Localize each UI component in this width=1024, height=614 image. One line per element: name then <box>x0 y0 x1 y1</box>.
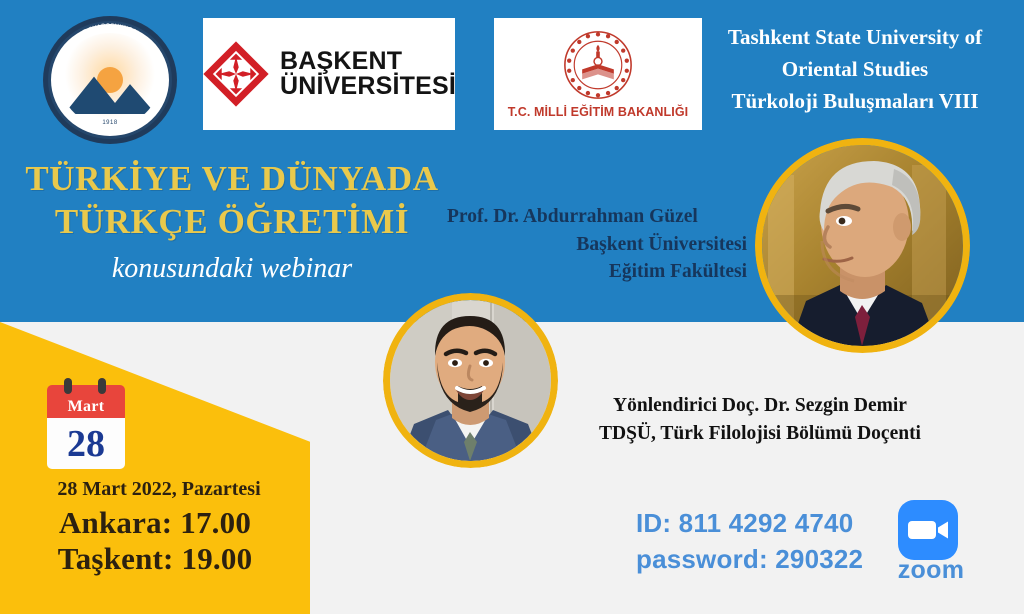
webinar-poster: TOSHKENT DAVLAT SHARQSHUNOSLIK UNIVERSIT… <box>0 0 1024 614</box>
moderator-portrait-demir <box>383 293 558 468</box>
calendar-month-label: Mart <box>68 398 105 416</box>
tsu-emblem-logo: TOSHKENT DAVLAT SHARQSHUNOSLIK UNIVERSIT… <box>43 16 177 144</box>
baskent-line-2: ÜNİVERSİTESİ <box>280 74 456 100</box>
milli-egitim-bakanligi-logo: T.C. MİLLİ EĞİTİM BAKANLIĞI <box>494 18 702 130</box>
speaker-portrait-guzel <box>755 138 970 353</box>
meb-caption: T.C. MİLLİ EĞİTİM BAKANLIĞI <box>508 105 688 119</box>
baskent-universitesi-logo: BAŞKENT ÜNİVERSİTESİ <box>203 18 455 130</box>
zoom-meeting-id: ID: 811 4292 4740 <box>636 506 863 542</box>
webinar-subtitle: konusundaki webinar <box>12 253 452 285</box>
speaker-name: Prof. Dr. Abdurrahman Güzel <box>447 203 747 231</box>
webinar-title-line-1: TÜRKİYE VE DÜNYADA <box>12 158 452 201</box>
calendar-header: Mart <box>47 385 125 418</box>
zoom-app-icon <box>898 500 958 560</box>
webinar-title-line-2: TÜRKÇE ÖĞRETİMİ <box>12 201 452 244</box>
moderator-affiliation: TDŞÜ, Türk Filolojisi Bölümü Doçenti <box>560 420 960 448</box>
zoom-credentials: ID: 811 4292 4740 password: 290322 <box>636 506 863 578</box>
baskent-wordmark: BAŞKENT ÜNİVERSİTESİ <box>280 49 456 100</box>
host-university-block: Tashkent State University of Oriental St… <box>700 22 1010 118</box>
emblem-mountain-icon <box>60 71 160 114</box>
emblem-year: 1918 <box>60 120 160 126</box>
event-date: 28 Mart 2022, Pazartesi <box>14 478 304 501</box>
meb-seal-icon <box>562 29 634 101</box>
baskent-line-1: BAŞKENT <box>280 49 456 75</box>
zoom-password: password: 290322 <box>636 542 863 578</box>
calendar-pin-left <box>64 378 72 394</box>
event-time-ankara: Ankara: 17.00 <box>10 505 300 541</box>
moderator-info-block: Yönlendirici Doç. Dr. Sezgin Demir TDŞÜ,… <box>560 392 960 449</box>
host-university-line-1: Tashkent State University of <box>700 22 1010 54</box>
event-time-tashkent: Taşkent: 19.00 <box>10 541 300 577</box>
speaker-affiliation: Başkent Üniversitesi <box>447 231 747 259</box>
calendar-body: 28 <box>47 418 125 469</box>
portrait-gold-ring <box>755 138 970 353</box>
host-university-line-2: Oriental Studies <box>700 54 1010 86</box>
moderator-name: Yönlendirici Doç. Dr. Sezgin Demir <box>560 392 960 420</box>
speaker-info-block: Prof. Dr. Abdurrahman Güzel Başkent Üniv… <box>447 203 747 286</box>
event-series-title: Türkoloji Buluşmaları VIII <box>700 86 1010 118</box>
webinar-title-block: TÜRKİYE VE DÜNYADA TÜRKÇE ÖĞRETİMİ konus… <box>12 158 452 285</box>
calendar-pin-right <box>98 378 106 394</box>
video-camera-icon <box>898 500 958 560</box>
emblem-disc: 1918 <box>60 33 160 127</box>
zoom-wordmark: zoom <box>896 556 966 585</box>
calendar-day-number: 28 <box>67 425 105 463</box>
baskent-diamond-icon <box>202 40 270 108</box>
speaker-faculty: Eğitim Fakültesi <box>447 258 747 286</box>
portrait-gold-ring <box>383 293 558 468</box>
calendar-icon: Mart 28 <box>47 383 125 469</box>
